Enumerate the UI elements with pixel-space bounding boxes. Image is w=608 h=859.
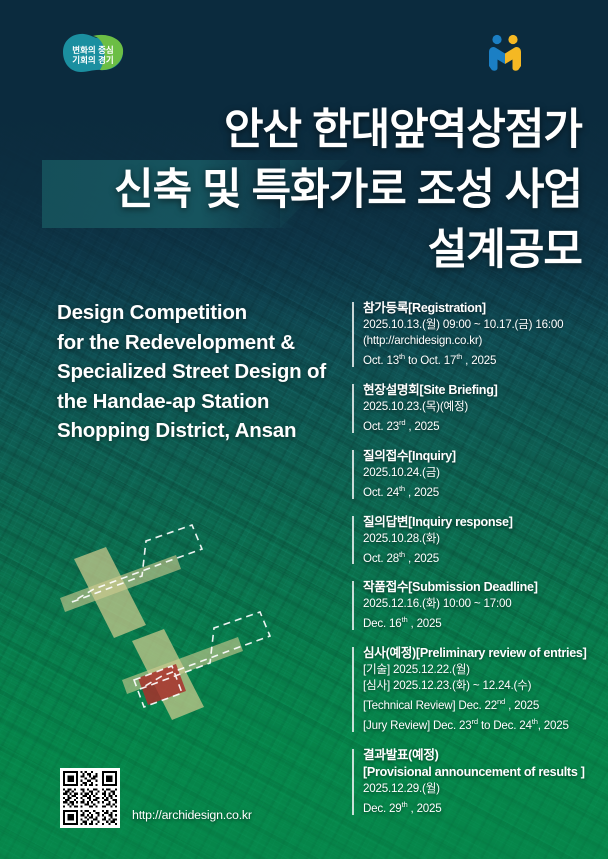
schedule-item-submission-deadline: 작품접수[Submission Deadline] 2025.12.16.(화)… — [352, 579, 600, 632]
schedule-detail: 2025.12.16.(화) 10:00 ~ 17:00 — [363, 596, 600, 612]
schedule-head: 참가등록[Registration] — [363, 300, 600, 317]
subtitle-en-line-3: Specialized Street Design of — [57, 357, 337, 387]
title-ko-line-3: 설계공모 — [0, 220, 582, 280]
schedule-detail-en: Oct. 23rd , 2025 — [363, 415, 600, 435]
subtitle-en-line-1: Design Competition — [57, 298, 337, 328]
schedule-detail-en: Oct. 24th , 2025 — [363, 481, 600, 501]
schedule-head: 질의답변[Inquiry response] — [363, 514, 600, 531]
page-title-korean: 안산 한대앞역상점가 신축 및 특화가로 조성 사업 설계공모 — [0, 100, 582, 280]
schedule-head: 작품접수[Submission Deadline] — [363, 579, 600, 596]
schedule-head-en: [Provisional announcement of results ] — [363, 764, 600, 781]
gyeonggi-province-logo: 변화의 중심 기회의 경기 — [57, 30, 129, 75]
schedule-head: 심사(예정)[Preliminary review of entries] — [363, 645, 600, 662]
page-subtitle-english: Design Competition for the Redevelopment… — [57, 298, 337, 446]
schedule-list: 참가등록[Registration] 2025.10.13.(월) 09:00 … — [352, 300, 600, 830]
schedule-item-site-briefing: 현장설명회[Site Briefing] 2025.10.23.(목)(예정) … — [352, 382, 600, 435]
schedule-detail-jury-en: [Jury Review] Dec. 23rd to Dec. 24th, 20… — [363, 714, 600, 734]
schedule-head-ko: 결과발표(예정) — [363, 747, 600, 764]
title-ko-line-2: 신축 및 특화가로 조성 사업 — [0, 160, 582, 220]
schedule-detail: 2025.10.13.(월) 09:00 ~ 10.17.(금) 16:00 — [363, 317, 600, 333]
schedule-item-preliminary-review: 심사(예정)[Preliminary review of entries] [기… — [352, 645, 600, 734]
schedule-detail-url: (http://archidesign.co.kr) — [363, 333, 600, 349]
schedule-detail-en: Oct. 28th , 2025 — [363, 547, 600, 567]
qr-code[interactable] — [60, 768, 120, 828]
ansan-city-logo — [484, 32, 526, 72]
schedule-item-inquiry: 질의접수[Inquiry] 2025.10.24.(금) Oct. 24th ,… — [352, 448, 600, 501]
schedule-detail-en: Dec. 29th , 2025 — [363, 797, 600, 817]
gyeonggi-logo-line2: 기회의 경기 — [72, 55, 113, 65]
site-plan-diagram — [60, 495, 360, 740]
schedule-detail: 2025.12.29.(월) — [363, 781, 600, 797]
schedule-detail: 2025.10.28.(화) — [363, 531, 600, 547]
schedule-detail-en: Dec. 16th , 2025 — [363, 612, 600, 632]
schedule-detail-jury-ko: [심사] 2025.12.23.(화) ~ 12.24.(수) — [363, 678, 600, 694]
schedule-detail: 2025.10.23.(목)(예정) — [363, 399, 600, 415]
website-url[interactable]: http://archidesign.co.kr — [132, 808, 252, 822]
schedule-item-inquiry-response: 질의답변[Inquiry response] 2025.10.28.(화) Oc… — [352, 514, 600, 567]
schedule-item-results-announcement: 결과발표(예정) [Provisional announcement of re… — [352, 747, 600, 817]
title-ko-line-1: 안산 한대앞역상점가 — [0, 100, 582, 160]
schedule-head: 질의접수[Inquiry] — [363, 448, 600, 465]
schedule-detail: 2025.10.24.(금) — [363, 465, 600, 481]
subtitle-en-line-2: for the Redevelopment & — [57, 328, 337, 358]
gyeonggi-logo-line1: 변화의 중심 — [72, 45, 113, 55]
subtitle-en-line-4: the Handae-ap Station — [57, 387, 337, 417]
schedule-detail-technical-ko: [기술] 2025.12.22.(월) — [363, 662, 600, 678]
schedule-item-registration: 참가등록[Registration] 2025.10.13.(월) 09:00 … — [352, 300, 600, 369]
subtitle-en-line-5: Shopping District, Ansan — [57, 416, 337, 446]
schedule-detail-technical-en: [Technical Review] Dec. 22nd , 2025 — [363, 694, 600, 714]
poster-canvas: 변화의 중심 기회의 경기 안산 한대앞역상점가 신축 및 특화가로 조성 사업… — [0, 0, 608, 859]
schedule-detail-en: Oct. 13th to Oct. 17th , 2025 — [363, 349, 600, 369]
schedule-head: 현장설명회[Site Briefing] — [363, 382, 600, 399]
